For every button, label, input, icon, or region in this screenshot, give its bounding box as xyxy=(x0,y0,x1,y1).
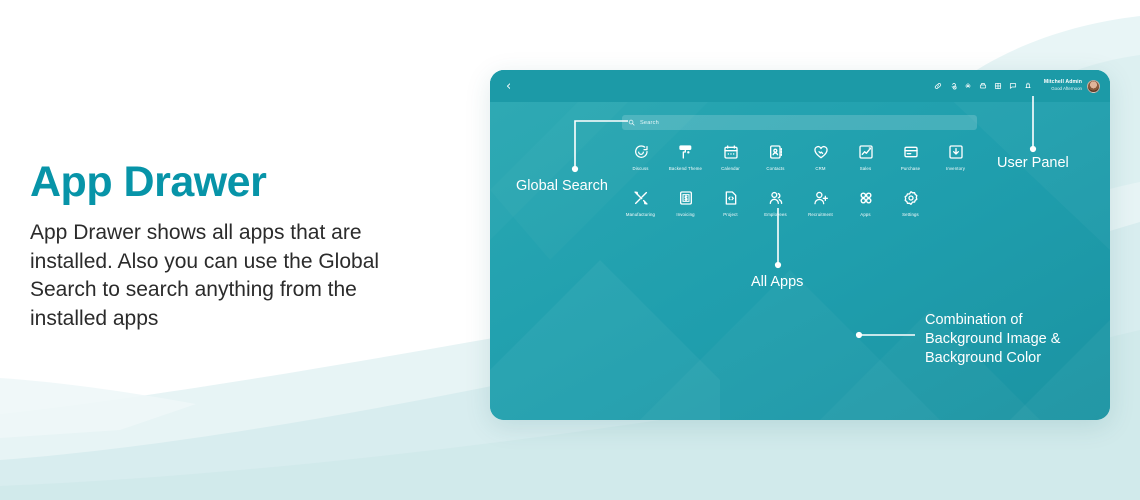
annotation-leader-lines xyxy=(0,0,1140,500)
annotation-user-panel: User Panel xyxy=(997,155,1069,171)
annotation-background-combination: Combination of Background Image & Backgr… xyxy=(925,311,1060,368)
annotation-all-apps: All Apps xyxy=(751,274,803,290)
annotation-global-search: Global Search xyxy=(516,178,608,194)
